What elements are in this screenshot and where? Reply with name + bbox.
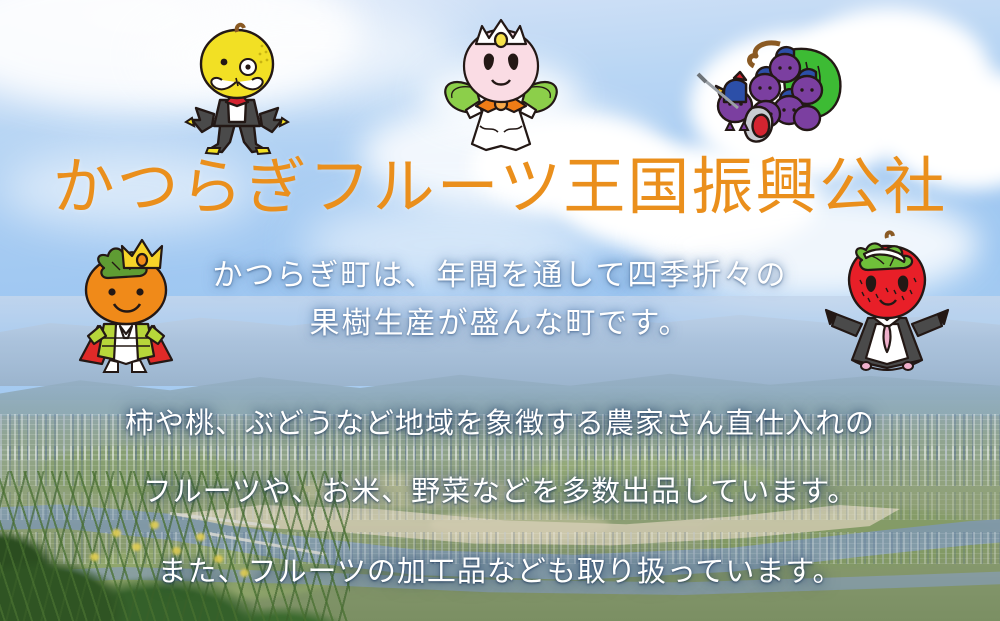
peach-princess-crown (476, 20, 526, 47)
subtitle-line-2: 果樹生産が盛んな町です。 (0, 300, 1000, 348)
grape-knight-feet (726, 122, 748, 130)
body-text-block: 柿や桃、ぶどうなど地域を象徴する農家さん直仕入れの フルーツや、お米、野菜などを… (0, 390, 1000, 606)
pear-gentleman-mascot (178, 22, 298, 152)
peach-princess-mascot (436, 14, 566, 154)
page-title: かつらぎフルーツ王国振興公社 (0, 157, 1000, 219)
grape-knight-mascot (694, 22, 854, 152)
pear-gentleman-body (192, 25, 282, 152)
peach-princess-dress (466, 98, 536, 150)
body-line-1: 柿や桃、ぶどうなど地域を象徴する農家さん直仕入れの (0, 390, 1000, 458)
body-line-3: また、フルーツの加工品なども取り扱っています。 (0, 538, 1000, 606)
subtitle-line-1: かつらぎ町は、年間を通して四季折々の (0, 252, 1000, 300)
fruit-kingdom-banner: かつらぎフルーツ王国振興公社 かつらぎ町は、年間を通して四季折々の 果樹生産が盛… (0, 0, 1000, 621)
subtitle-block: かつらぎ町は、年間を通して四季折々の 果樹生産が盛んな町です。 (0, 252, 1000, 348)
body-line-2: フルーツや、お米、野菜などを多数出品しています。 (0, 458, 1000, 526)
